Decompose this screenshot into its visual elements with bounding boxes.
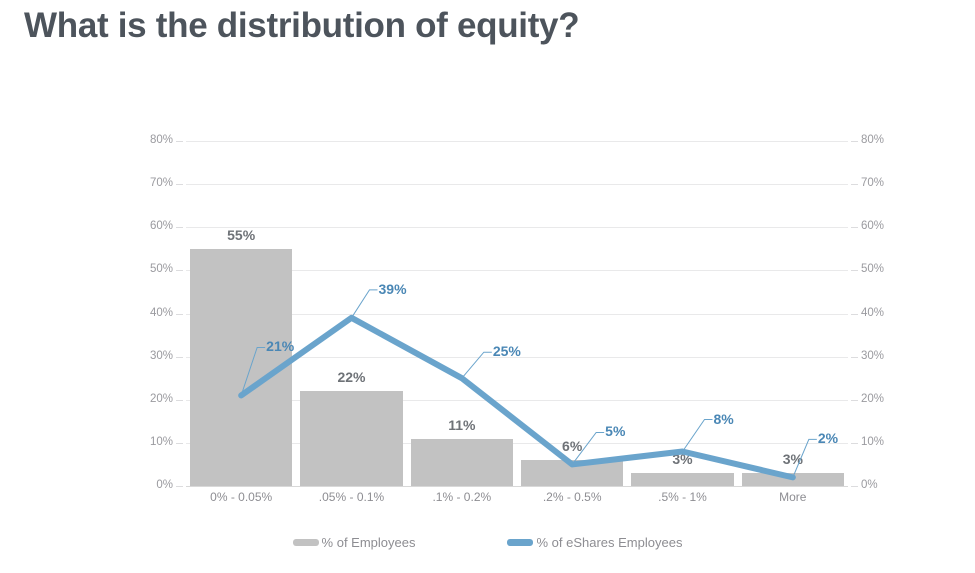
y-axis-left-tick-label: 10% (150, 437, 173, 449)
gridline (186, 486, 848, 487)
y-axis-left-tick (176, 486, 183, 487)
y-axis-right-tick (851, 486, 858, 487)
x-axis-tick-label: .05% - 0.1% (296, 491, 406, 503)
line-series (186, 141, 848, 486)
chart: 0%10%20%30%40%50%60%70%80% 0%10%20%30%40… (0, 100, 975, 573)
y-axis-left-tick-label: 0% (156, 480, 173, 492)
y-axis-right-tick (851, 400, 858, 401)
y-axis-right-tick (851, 270, 858, 271)
y-axis-right-tick-label: 20% (861, 394, 884, 406)
y-axis-left-tick-label: 30% (150, 351, 173, 363)
y-axis-right-tick-label: 30% (861, 351, 884, 363)
y-axis-right-tick-label: 60% (861, 221, 884, 233)
y-axis-left-tick-label: 60% (150, 221, 173, 233)
y-axis-left-tick (176, 184, 183, 185)
line-data-label: 8% (714, 412, 734, 426)
y-axis-left-tick-label: 80% (150, 135, 173, 147)
legend-swatch-icon (507, 539, 533, 546)
y-axis-left-tick (176, 227, 183, 228)
legend-item[interactable]: % of eShares Employees (507, 536, 682, 549)
chart-legend: % of Employees% of eShares Employees (0, 530, 975, 554)
leader-lines (241, 290, 817, 478)
line-data-label: 5% (605, 424, 625, 438)
x-axis-tick-label: 0% - 0.05% (186, 491, 296, 503)
y-axis-right-tick (851, 141, 858, 142)
x-axis-tick-label: .1% - 0.2% (407, 491, 517, 503)
y-axis-left-tick-label: 50% (150, 264, 173, 276)
x-axis-tick-label: .5% - 1% (627, 491, 737, 503)
y-axis-left-tick (176, 314, 183, 315)
y-axis-right-tick (851, 184, 858, 185)
leader-line (793, 439, 817, 477)
legend-label: % of Employees (322, 536, 416, 549)
y-axis-right-tick-label: 50% (861, 264, 884, 276)
line-data-label: 21% (266, 339, 294, 353)
y-axis-right-tick-label: 10% (861, 437, 884, 449)
line-path (241, 318, 793, 478)
y-axis-right-tick-label: 0% (861, 480, 878, 492)
y-axis-left-tick (176, 357, 183, 358)
y-axis-left-tick (176, 443, 183, 444)
y-axis-left-tick-label: 20% (150, 394, 173, 406)
y-axis-right-tick (851, 314, 858, 315)
y-axis-right-tick (851, 357, 858, 358)
y-axis-left-tick-label: 40% (150, 308, 173, 320)
leader-line (683, 420, 713, 452)
y-axis-right-tick (851, 227, 858, 228)
leader-line (462, 352, 492, 378)
y-axis-left-tick (176, 141, 183, 142)
y-axis-left-tick (176, 400, 183, 401)
y-axis-right-tick (851, 443, 858, 444)
x-axis-categories: 0% - 0.05%.05% - 0.1%.1% - 0.2%.2% - 0.5… (186, 491, 848, 513)
line-data-label: 25% (493, 344, 521, 358)
y-axis-left-tick-label: 70% (150, 178, 173, 190)
slide-canvas: What is the distribution of equity? 0%10… (0, 0, 975, 573)
plot-area: 0%10%20%30%40%50%60%70%80% 0%10%20%30%40… (186, 141, 848, 486)
legend-label: % of eShares Employees (536, 536, 682, 549)
line-data-label: 2% (818, 431, 838, 445)
legend-item[interactable]: % of Employees (293, 536, 416, 549)
y-axis-right-tick-label: 40% (861, 308, 884, 320)
x-axis-tick-label: More (738, 491, 848, 503)
y-axis-right-tick-label: 80% (861, 135, 884, 147)
leader-line (352, 290, 378, 318)
y-axis-right-tick-label: 70% (861, 178, 884, 190)
x-axis-tick-label: .2% - 0.5% (517, 491, 627, 503)
line-data-label: 39% (379, 282, 407, 296)
legend-swatch-icon (293, 539, 319, 546)
page-title: What is the distribution of equity? (24, 6, 579, 46)
y-axis-left-tick (176, 270, 183, 271)
